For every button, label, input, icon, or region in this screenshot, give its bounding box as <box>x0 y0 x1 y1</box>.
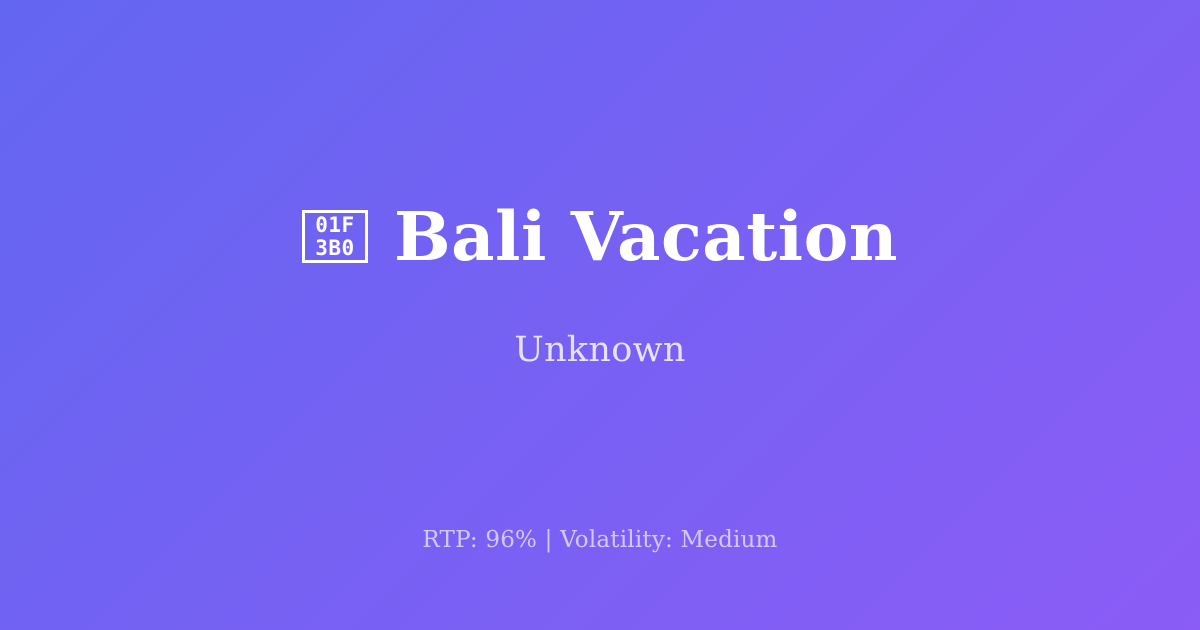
footer: RTP: 96% | Volatility: Medium <box>0 527 1200 555</box>
game-meta-text: RTP: 96% | Volatility: Medium <box>0 527 1200 555</box>
tofu-codepoint-top: 01F <box>315 214 354 237</box>
hero-content: 01F 3B0 Bali Vacation Unknown <box>0 201 1200 370</box>
tofu-codepoint-bottom: 3B0 <box>315 237 354 260</box>
page-title: Bali Vacation <box>394 201 898 272</box>
title-row: 01F 3B0 Bali Vacation <box>302 201 898 272</box>
page-subtitle: Unknown <box>514 329 685 371</box>
promo-card-page: { "theme": { "gradient_from": "#6366F1",… <box>0 0 1200 630</box>
slot-machine-emoji-tofu-icon: 01F 3B0 <box>302 210 368 263</box>
